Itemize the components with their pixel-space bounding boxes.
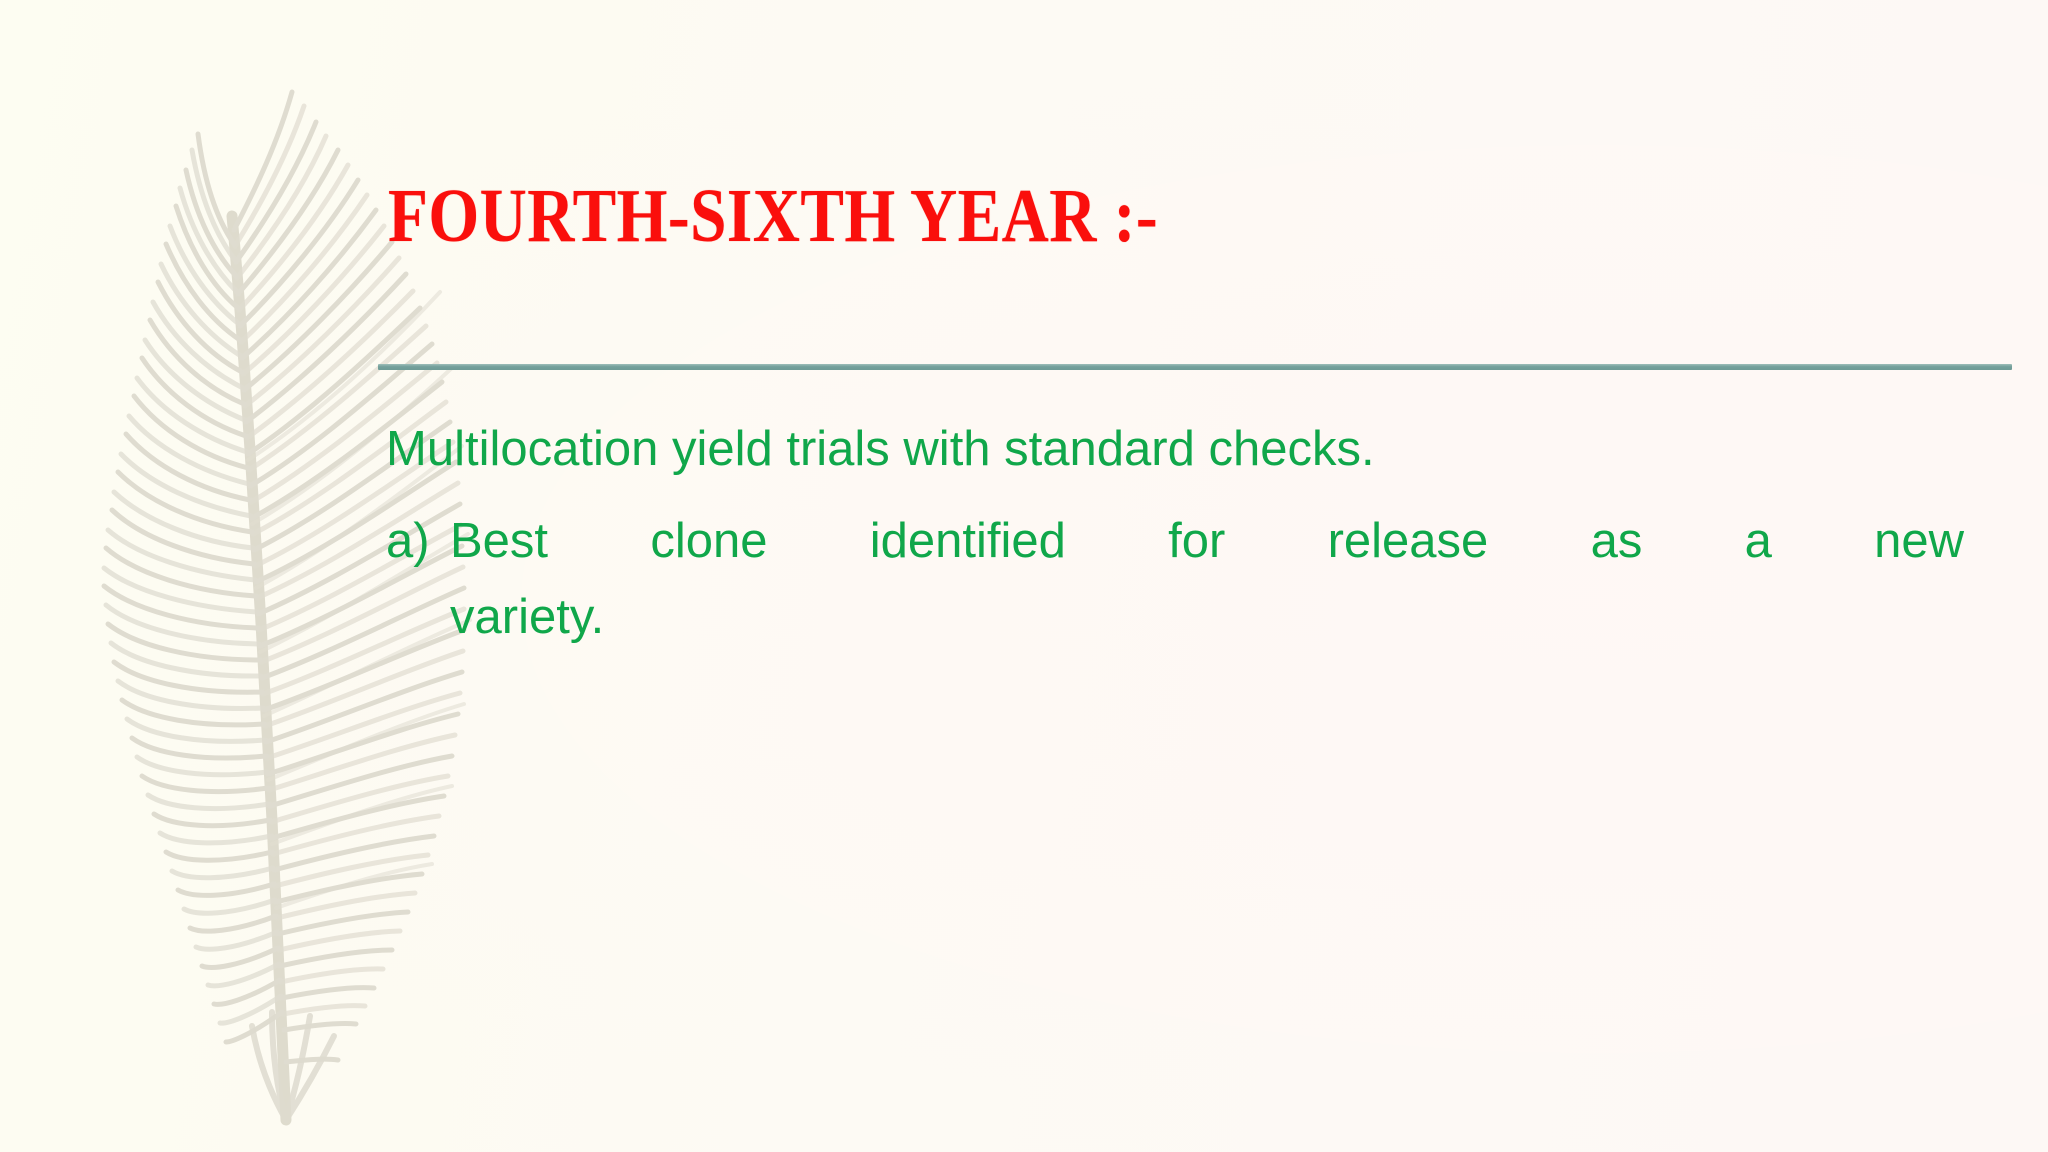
list-item-marker: a) (386, 504, 450, 580)
presentation-slide: FOURTH-SIXTH YEAR :- Multilocation yield… (0, 0, 2048, 1152)
list-item-line-2: variety. (450, 580, 1964, 656)
title-divider-rule (378, 364, 2012, 370)
slide-title: FOURTH-SIXTH YEAR :- (388, 178, 1158, 254)
slide-content: FOURTH-SIXTH YEAR :- Multilocation yield… (378, 0, 2012, 1152)
slide-body: Multilocation yield trials with standard… (386, 412, 1964, 656)
list-item-text: Best clone identified for release as a n… (450, 504, 1964, 656)
body-lead-line: Multilocation yield trials with standard… (386, 412, 1964, 488)
list-item: a) Best clone identified for release as … (386, 504, 1964, 656)
list-item-line-1: Best clone identified for release as a n… (450, 504, 1964, 580)
